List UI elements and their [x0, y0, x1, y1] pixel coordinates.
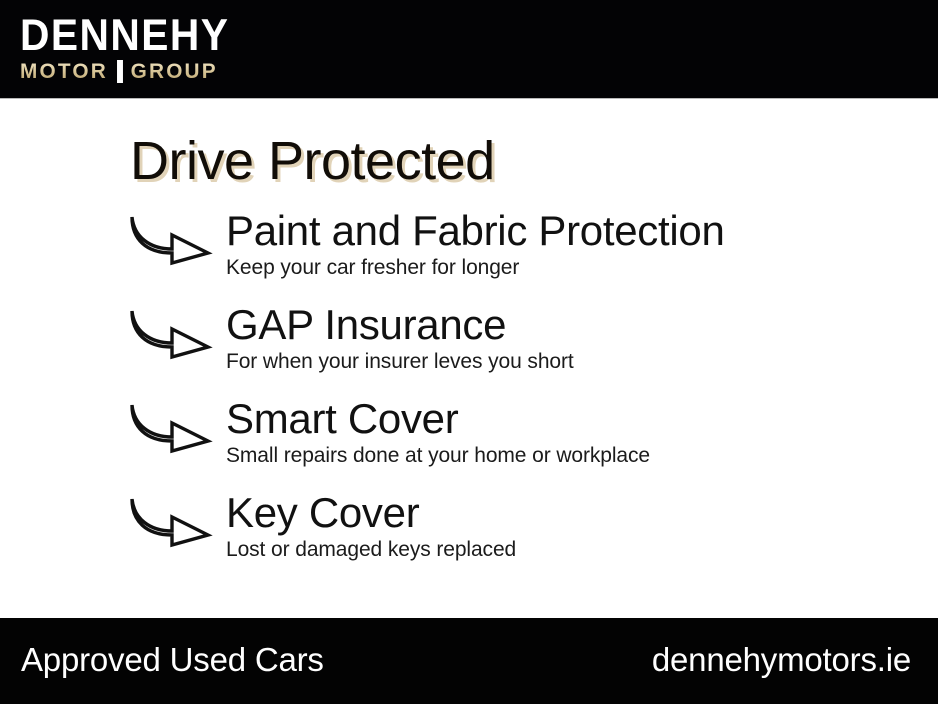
- logo-wordmark: DENNEHY: [20, 13, 272, 58]
- banner-footer: Approved Used Cars dennehymotors.ie: [0, 618, 938, 704]
- logo-subline: MOTOR GROUP: [20, 60, 277, 83]
- curved-arrow-right-icon: [128, 307, 214, 361]
- vertical-bar-icon: [117, 60, 123, 83]
- feature-title: GAP Insurance: [226, 301, 938, 349]
- dennehy-motor-group-logo: DENNEHY MOTOR GROUP: [20, 13, 280, 83]
- page-title: Drive Protected: [130, 132, 495, 190]
- feature-title: Smart Cover: [226, 395, 938, 443]
- approved-used-cars-label: Approved Used Cars: [21, 641, 324, 679]
- logo-subline-group: GROUP: [131, 61, 218, 83]
- drive-protected-banner: DENNEHY MOTOR GROUP Drive Protected Pain…: [0, 0, 938, 704]
- curved-arrow-right-icon: [128, 495, 214, 549]
- banner-header: DENNEHY MOTOR GROUP: [0, 0, 938, 98]
- feature-title: Paint and Fabric Protection: [226, 207, 938, 255]
- website-url-label[interactable]: dennehymotors.ie: [652, 641, 911, 679]
- feature-subtitle: Lost or damaged keys replaced: [226, 538, 938, 562]
- feature-subtitle: For when your insurer leves you short: [226, 350, 938, 374]
- content-panel: Drive Protected Paint and Fabric Protect…: [0, 98, 938, 618]
- logo-subline-motor: MOTOR: [20, 61, 108, 83]
- feature-subtitle: Small repairs done at your home or workp…: [226, 444, 938, 468]
- list-item-text: Smart Cover Small repairs done at your h…: [226, 395, 938, 468]
- list-item-text: Key Cover Lost or damaged keys replaced: [226, 489, 938, 562]
- feature-subtitle: Keep your car fresher for longer: [226, 256, 938, 280]
- list-item-text: GAP Insurance For when your insurer leve…: [226, 301, 938, 374]
- feature-title: Key Cover: [226, 489, 938, 537]
- list-item-text: Paint and Fabric Protection Keep your ca…: [226, 207, 938, 280]
- curved-arrow-right-icon: [128, 213, 214, 267]
- curved-arrow-right-icon: [128, 401, 214, 455]
